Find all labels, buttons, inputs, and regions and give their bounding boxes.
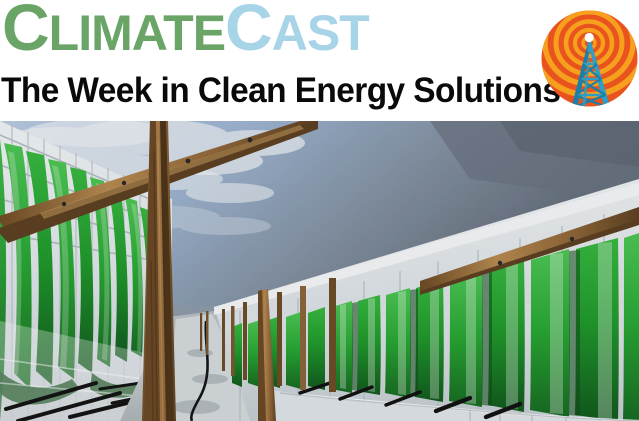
masthead: CLIMATECAST The Week in Clean Energy Sol…: [0, 0, 639, 121]
wordmark-climatecast: CLIMATECAST: [2, 0, 369, 61]
algae-bioreactor-photo: [0, 121, 639, 421]
broadcast-tower-icon: [541, 6, 638, 111]
wordmark-segment-c2: C: [225, 0, 272, 60]
wordmark-segment-c1: C: [2, 0, 49, 60]
climatecast-newsletter-banner: CLIMATECAST The Week in Clean Energy Sol…: [0, 0, 639, 421]
wordmark-segment-limate: LIMATE: [49, 8, 225, 58]
tagline: The Week in Clean Energy Solutions: [1, 72, 560, 109]
wordmark-segment-ast: AST: [272, 8, 369, 58]
